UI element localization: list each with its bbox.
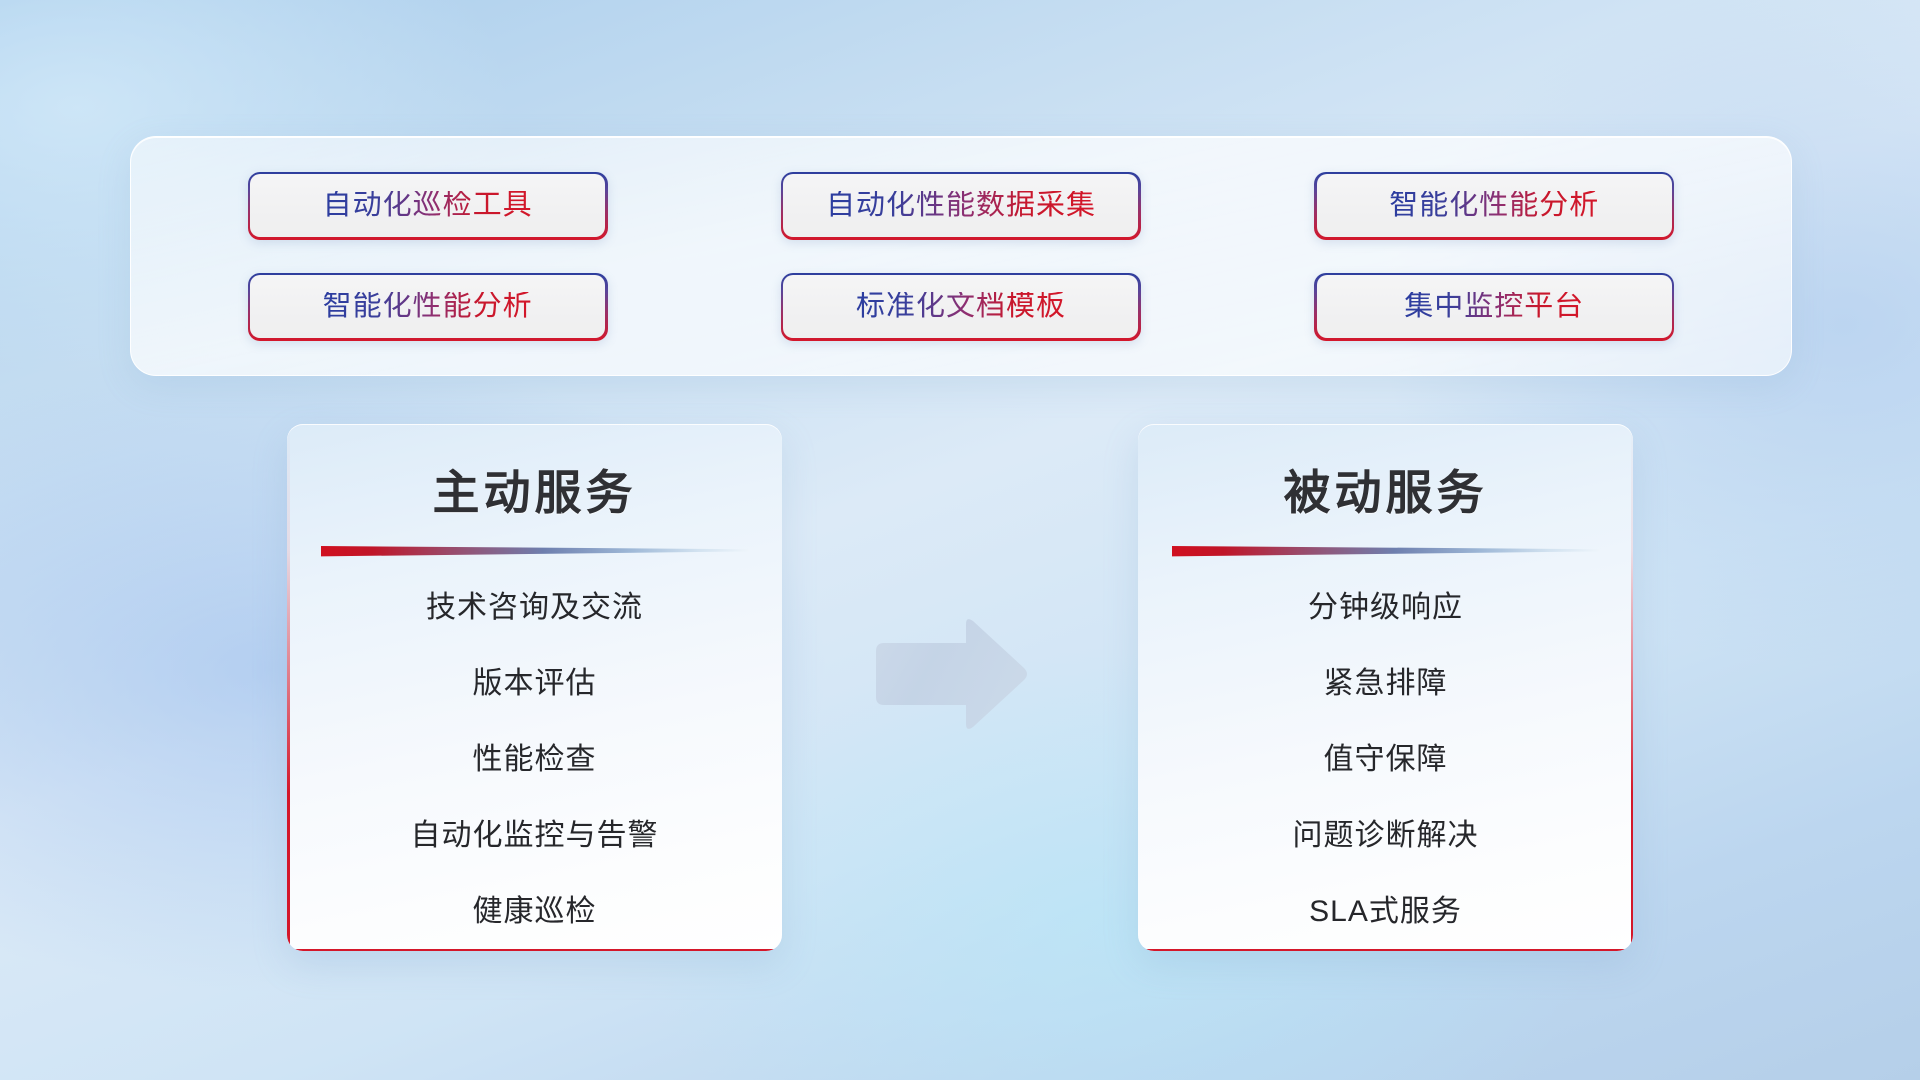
capability-tag-1-label: 自动化巡检工具	[323, 191, 533, 220]
list-item: 性能检查	[311, 731, 758, 789]
capability-tag-2-inner: 自动化性能数据采集	[783, 174, 1138, 237]
capability-tag-4-label: 智能化性能分析	[323, 292, 533, 321]
gradient-divider-icon	[321, 544, 749, 557]
capability-tag-3[interactable]: 智能化性能分析	[1314, 172, 1674, 240]
capability-tag-5-inner: 标准化文档模板	[783, 275, 1138, 338]
capability-tag-4-inner: 智能化性能分析	[250, 275, 605, 338]
card-title-proactive: 主动服务	[287, 467, 782, 519]
list-item: 技术咨询及交流	[311, 579, 758, 637]
list-item: 值守保障	[1162, 731, 1609, 789]
capability-tag-6[interactable]: 集中监控平台	[1314, 273, 1674, 341]
capability-tag-6-label: 集中监控平台	[1404, 292, 1584, 321]
service-list-reactive: 分钟级响应 紧急排障 值守保障 问题诊断解决 SLA式服务	[1138, 579, 1633, 941]
list-item: 问题诊断解决	[1162, 807, 1609, 865]
capability-tag-6-inner: 集中监控平台	[1317, 275, 1672, 338]
capability-tag-1[interactable]: 自动化巡检工具	[248, 172, 608, 240]
list-item: SLA式服务	[1162, 883, 1609, 941]
capability-tag-3-inner: 智能化性能分析	[1317, 174, 1672, 237]
list-item: 健康巡检	[311, 883, 758, 941]
gradient-divider-icon	[1172, 544, 1600, 557]
arrow-right-icon	[870, 614, 1030, 734]
service-list-proactive: 技术咨询及交流 版本评估 性能检查 自动化监控与告警 健康巡检	[287, 579, 782, 941]
service-card-reactive: 被动服务 分钟级响应 紧急排障 值守保障 问题诊断解决 SLA式服务	[1138, 424, 1633, 951]
capability-tags-panel: 自动化巡检工具 自动化性能数据采集 智能化性能分析 智能化性能分析 标准化文档模…	[130, 136, 1792, 376]
capability-tag-1-inner: 自动化巡检工具	[250, 174, 605, 237]
service-card-proactive: 主动服务 技术咨询及交流 版本评估 性能检查 自动化监控与告警 健康巡检	[287, 424, 782, 951]
list-item: 分钟级响应	[1162, 579, 1609, 637]
card-accent-edge	[1631, 424, 1634, 951]
capability-tag-2-label: 自动化性能数据采集	[826, 191, 1096, 220]
list-item: 自动化监控与告警	[311, 807, 758, 865]
capability-tag-5-label: 标准化文档模板	[856, 292, 1066, 321]
capability-tag-3-label: 智能化性能分析	[1389, 191, 1599, 220]
list-item: 紧急排障	[1162, 655, 1609, 713]
card-title-reactive: 被动服务	[1138, 467, 1633, 519]
card-accent-edge	[287, 424, 290, 951]
capability-tag-5[interactable]: 标准化文档模板	[781, 273, 1141, 341]
capability-tag-4[interactable]: 智能化性能分析	[248, 273, 608, 341]
capability-tag-2[interactable]: 自动化性能数据采集	[781, 172, 1141, 240]
list-item: 版本评估	[311, 655, 758, 713]
